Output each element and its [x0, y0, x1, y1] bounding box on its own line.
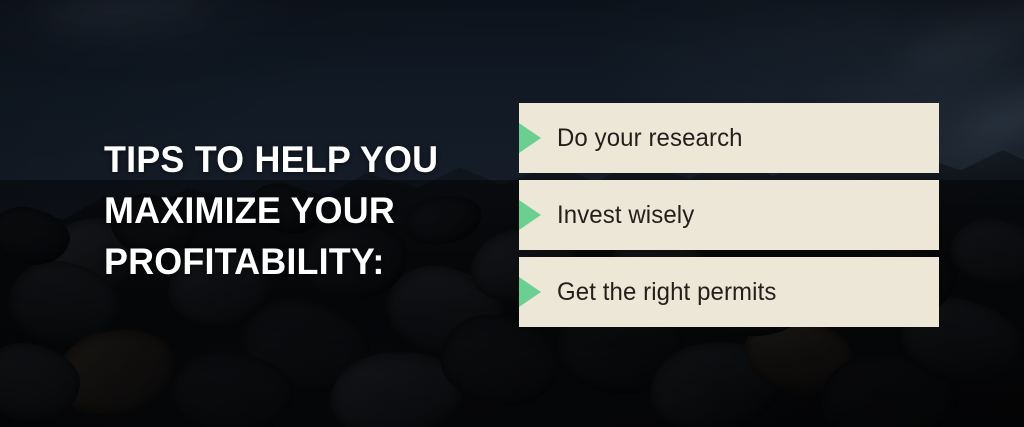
page-title-line-2: MAXIMIZE YOUR [104, 185, 463, 236]
triangle-right-icon [519, 123, 541, 153]
list-item[interactable]: Get the right permits [519, 257, 939, 327]
triangle-right-icon [519, 277, 541, 307]
list-item-label: Invest wisely [557, 201, 694, 230]
page-title-line-1: TIPS TO HELP YOU [104, 134, 463, 185]
list-item-label: Get the right permits [557, 278, 776, 307]
tips-list: Do your research Invest wisely Get the r… [519, 103, 939, 327]
list-item[interactable]: Invest wisely [519, 180, 939, 250]
page-title: TIPS TO HELP YOU MAXIMIZE YOUR PROFITABI… [104, 134, 463, 287]
list-item-label: Do your research [557, 124, 743, 153]
triangle-right-icon [519, 200, 541, 230]
list-item[interactable]: Do your research [519, 103, 939, 173]
banner-canvas: TIPS TO HELP YOU MAXIMIZE YOUR PROFITABI… [0, 0, 1024, 427]
page-title-line-3: PROFITABILITY: [104, 236, 463, 287]
